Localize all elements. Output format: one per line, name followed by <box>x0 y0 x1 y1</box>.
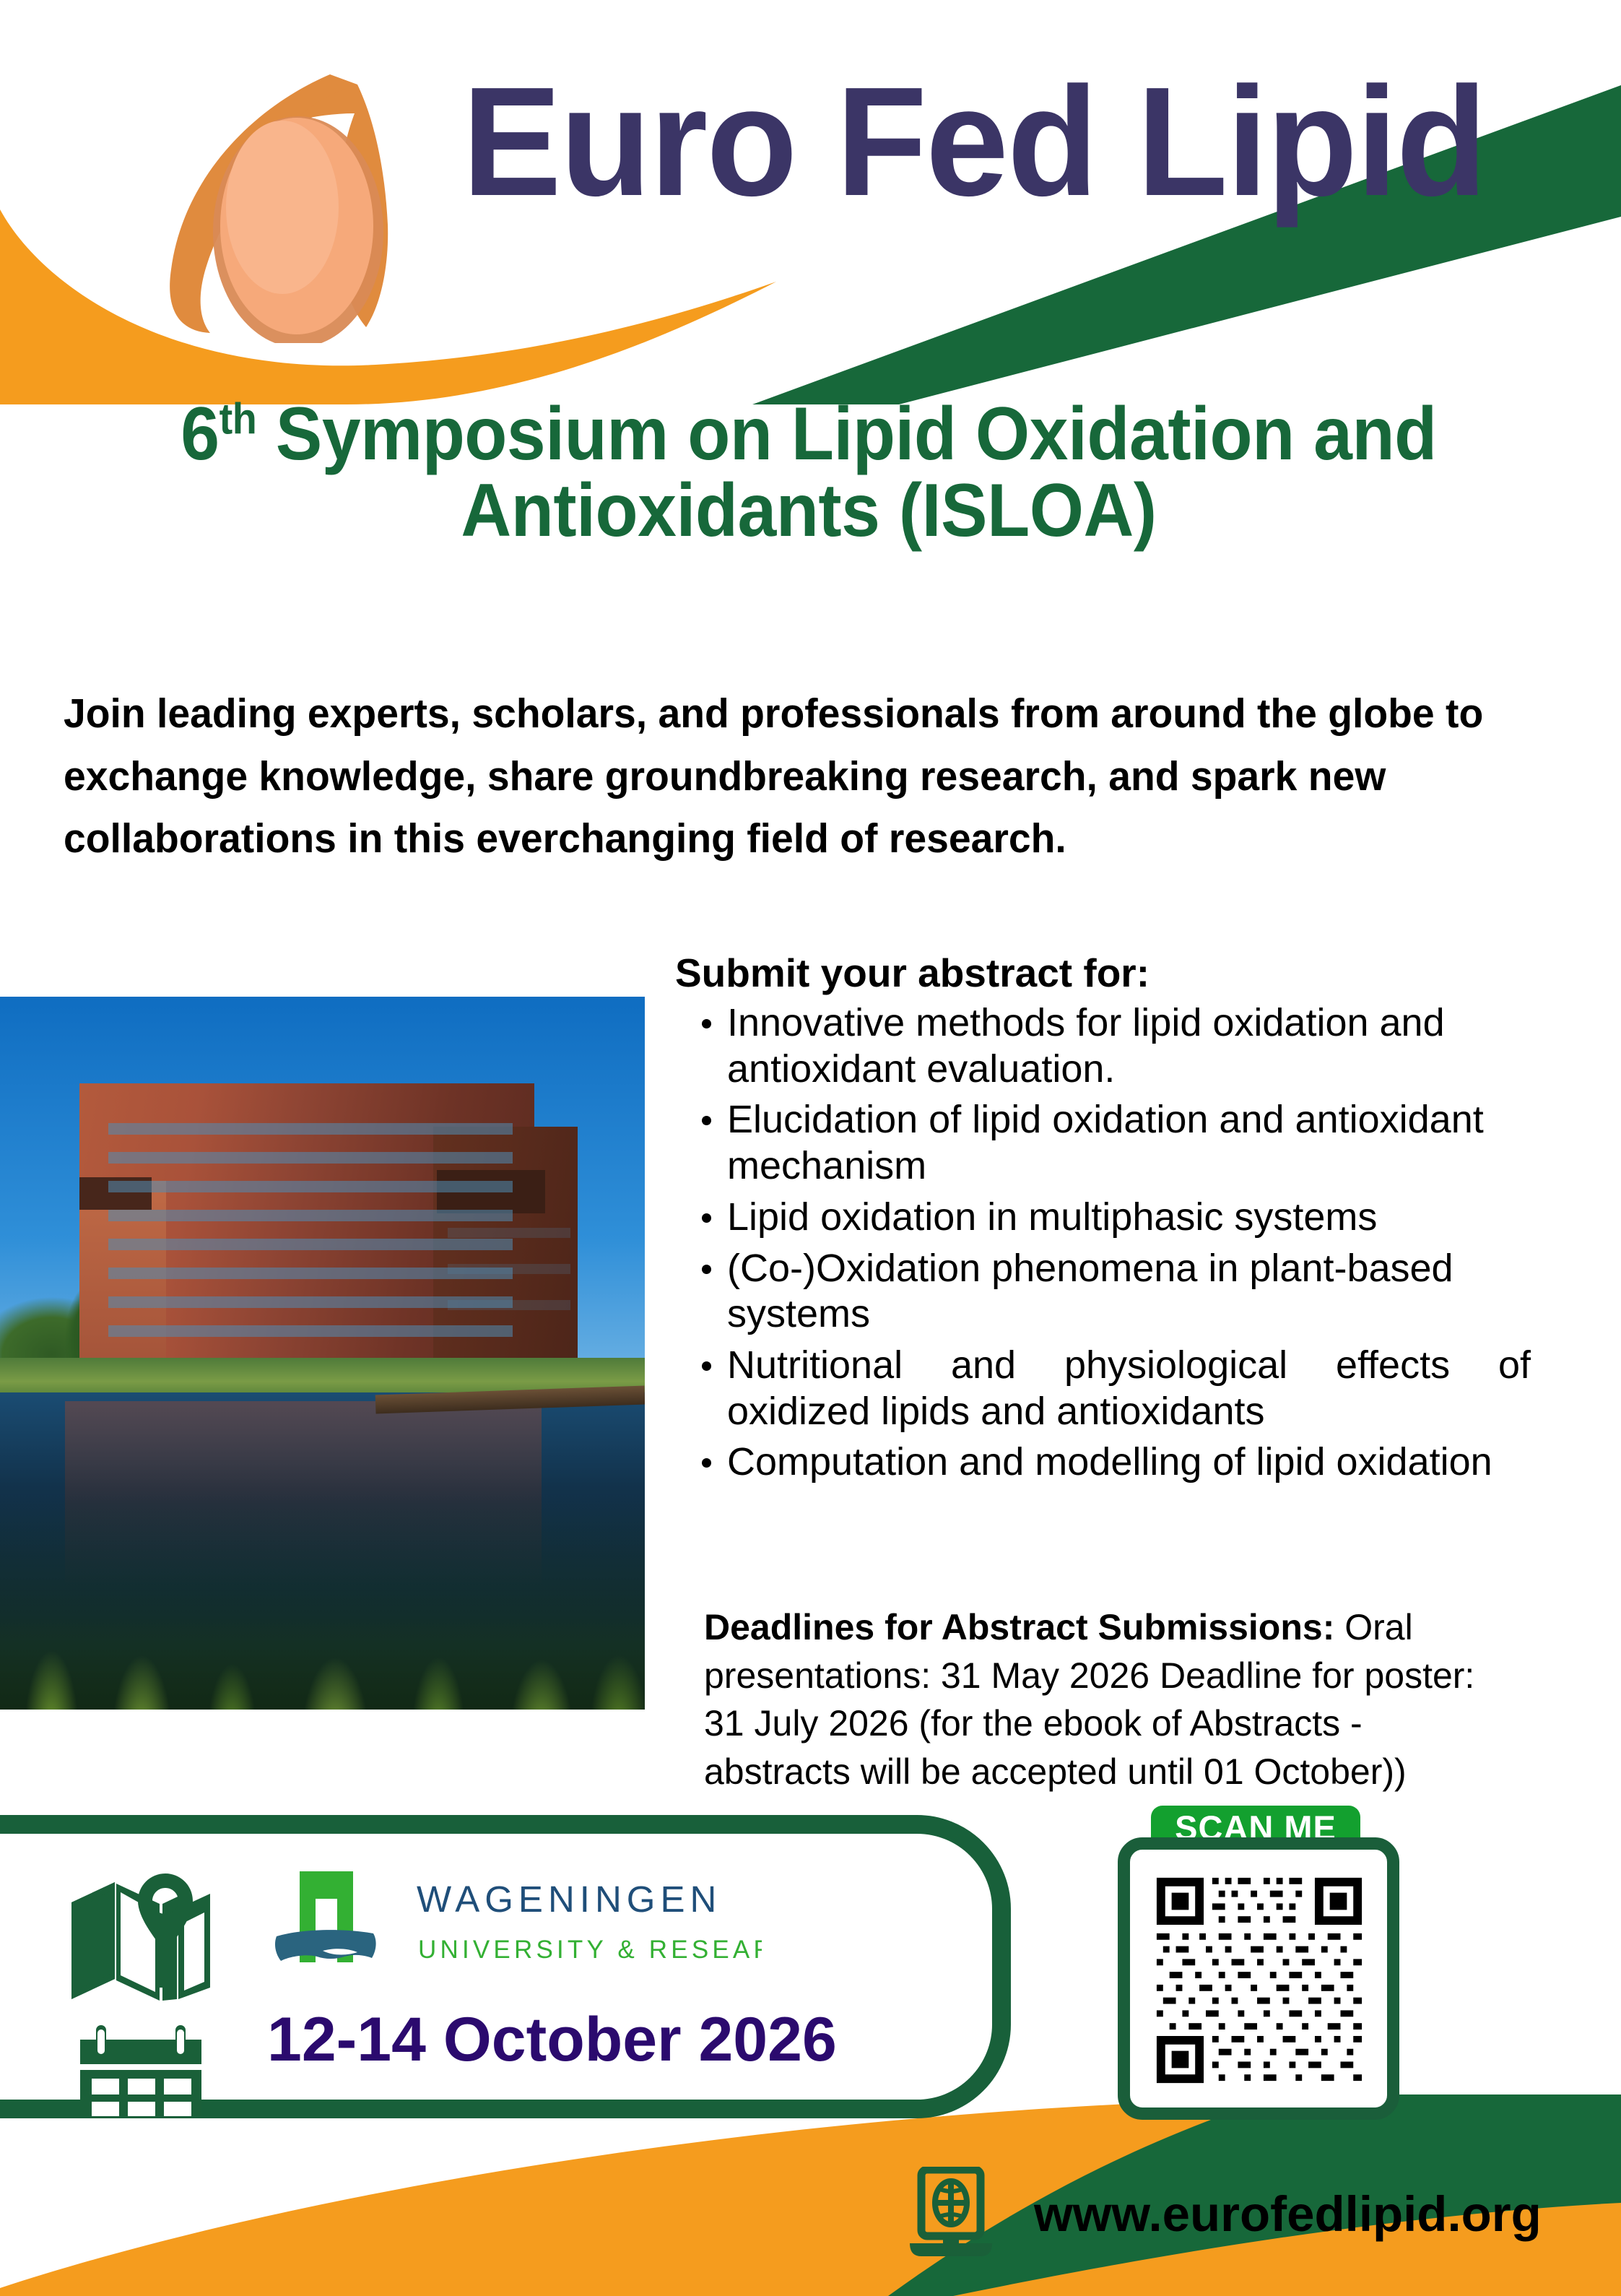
wur-name-line2: UNIVERSITY & RESEARCH <box>418 1936 762 1964</box>
deadlines-label: Deadlines for Abstract Submissions: <box>704 1607 1334 1647</box>
laptop-globe-icon <box>908 2167 994 2259</box>
event-title-line1: Symposium on Lipid Oxidation and <box>276 392 1437 476</box>
calendar-icon <box>80 2025 201 2116</box>
event-title-line2: Antioxidants (ISLOA) <box>97 472 1521 549</box>
list-item: Computation and modelling of lipid oxida… <box>693 1439 1531 1486</box>
wur-mark-icon <box>275 1871 376 1962</box>
website-url[interactable]: www.eurofedlipid.org <box>1034 2185 1542 2243</box>
brand-name: Euro Fed Lipid <box>462 64 1486 219</box>
brand-header: Euro Fed Lipid <box>0 0 1621 361</box>
poster-root: Euro Fed Lipid 6th Symposium on Lipid Ox… <box>0 0 1621 2296</box>
list-item: Lipid oxidation in multiphasic systems <box>693 1195 1531 1241</box>
wur-name-line1: WAGENINGEN <box>417 1879 721 1920</box>
campus-building-photo <box>0 997 645 1710</box>
abstract-heading: Submit your abstract for: <box>675 950 1150 996</box>
wageningen-logo: WAGENINGEN UNIVERSITY & RESEARCH <box>256 1867 762 1983</box>
venue-icons <box>69 1872 220 2118</box>
euro-fed-lipid-logo <box>141 40 451 343</box>
deadlines-block: Deadlines for Abstract Submissions: Oral… <box>704 1603 1513 1795</box>
list-item: Nutritional and physiological effects of… <box>693 1343 1531 1434</box>
list-item: Elucidation of lipid oxidation and antio… <box>693 1097 1531 1189</box>
event-ordinal-suffix: th <box>220 394 257 443</box>
qr-code-icon[interactable] <box>1152 1873 1366 2087</box>
event-ordinal: 6 <box>181 392 219 476</box>
qr-code-block[interactable]: SCAN ME <box>1118 1806 1399 2120</box>
list-item: (Co-)Oxidation phenomena in plant-based … <box>693 1246 1531 1338</box>
intro-paragraph: Join leading experts, scholars, and prof… <box>64 683 1485 870</box>
page-title: 6th Symposium on Lipid Oxidation and Ant… <box>97 396 1521 549</box>
event-dates: 12-14 October 2026 <box>267 2004 837 2076</box>
abstract-topic-list: Innovative methods for lipid oxidation a… <box>693 1000 1531 1491</box>
list-item: Innovative methods for lipid oxidation a… <box>693 1000 1531 1092</box>
map-pin-icon <box>71 1873 210 2001</box>
